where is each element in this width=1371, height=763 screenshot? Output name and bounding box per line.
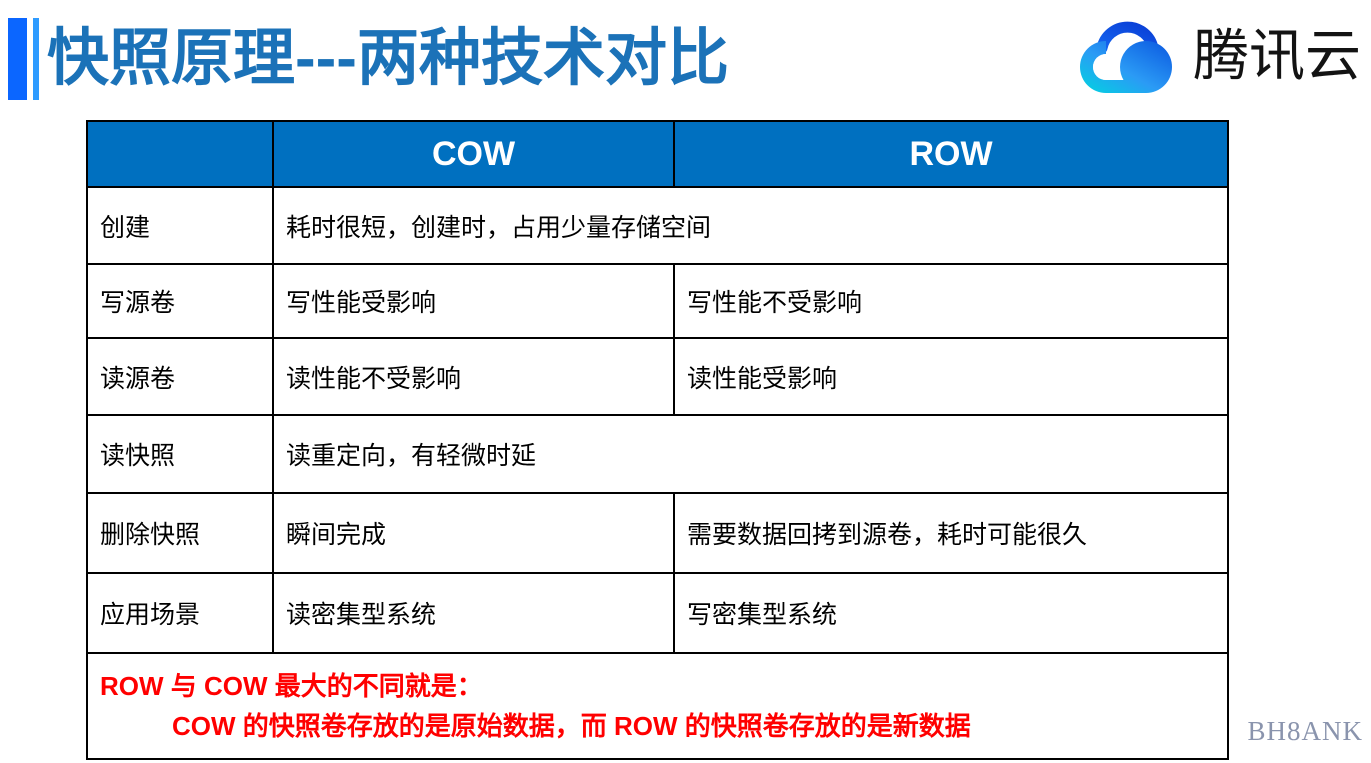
logo-wordmark: 腾讯云 [1193, 26, 1361, 86]
row-value-write-source-row: 写性能不受影响 [674, 264, 1228, 338]
accent-bar-thin [33, 18, 39, 100]
row-label-delete-snapshot: 删除快照 [87, 493, 273, 573]
table-header-row: COW ROW [87, 121, 1228, 187]
summary-note-line-2: COW 的快照卷存放的是原始数据，而 ROW 的快照卷存放的是新数据 [100, 706, 1215, 746]
summary-note-line-1: ROW 与 COW 最大的不同就是： [100, 666, 1215, 706]
table-row: 应用场景 读密集型系统 写密集型系统 [87, 573, 1228, 653]
table-header-corner [87, 121, 273, 187]
row-value-use-case-row: 写密集型系统 [674, 573, 1228, 653]
table-header-row-col: ROW [674, 121, 1228, 187]
row-label-read-snapshot: 读快照 [87, 415, 273, 493]
row-value-delete-snapshot-row: 需要数据回拷到源卷，耗时可能很久 [674, 493, 1228, 573]
row-value-read-source-cow: 读性能不受影响 [273, 338, 674, 415]
summary-note-cell: ROW 与 COW 最大的不同就是： COW 的快照卷存放的是原始数据，而 RO… [87, 653, 1228, 759]
brand-logo: 腾讯云 [1075, 8, 1361, 104]
table-row: 创建 耗时很短，创建时，占用少量存储空间 [87, 187, 1228, 264]
table-header-cow: COW [273, 121, 674, 187]
row-value-use-case-cow: 读密集型系统 [273, 573, 674, 653]
row-label-write-source: 写源卷 [87, 264, 273, 338]
comparison-table: COW ROW 创建 耗时很短，创建时，占用少量存储空间 写源卷 写性能受影响 … [86, 120, 1229, 760]
row-label-read-source: 读源卷 [87, 338, 273, 415]
table-row: 读源卷 读性能不受影响 读性能受影响 [87, 338, 1228, 415]
slide-header: 快照原理---两种技术对比 腾讯云 [0, 0, 1371, 118]
row-value-read-snapshot-span: 读重定向，有轻微时延 [273, 415, 1228, 493]
row-value-delete-snapshot-cow: 瞬间完成 [273, 493, 674, 573]
row-label-use-case: 应用场景 [87, 573, 273, 653]
accent-bar-thick [8, 18, 27, 100]
row-value-create-span: 耗时很短，创建时，占用少量存储空间 [273, 187, 1228, 264]
table-row: 删除快照 瞬间完成 需要数据回拷到源卷，耗时可能很久 [87, 493, 1228, 573]
row-value-read-source-row: 读性能受影响 [674, 338, 1228, 415]
row-value-write-source-cow: 写性能受影响 [273, 264, 674, 338]
table-row: 读快照 读重定向，有轻微时延 [87, 415, 1228, 493]
table-row: 写源卷 写性能受影响 写性能不受影响 [87, 264, 1228, 338]
watermark: BH8ANK [1247, 716, 1363, 747]
table-note-row: ROW 与 COW 最大的不同就是： COW 的快照卷存放的是原始数据，而 RO… [87, 653, 1228, 759]
page-title: 快照原理---两种技术对比 [47, 14, 729, 104]
row-label-create: 创建 [87, 187, 273, 264]
tencent-cloud-logo-icon [1075, 14, 1179, 98]
